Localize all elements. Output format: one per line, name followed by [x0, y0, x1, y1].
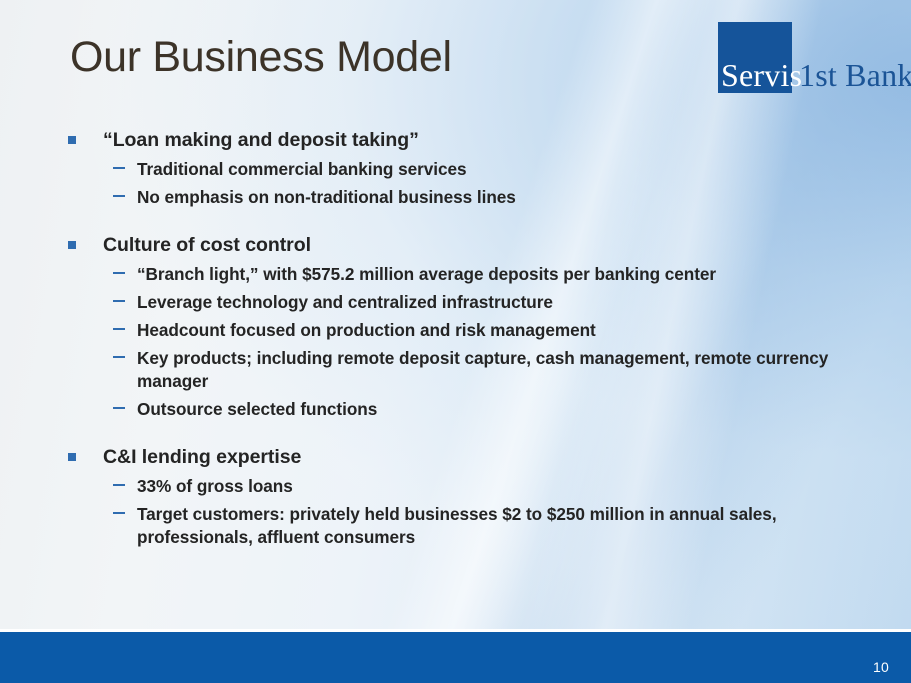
bullet-level1: Culture of cost control — [66, 233, 896, 258]
page-title: Our Business Model — [70, 33, 452, 82]
dash-bullet-icon — [113, 272, 125, 274]
bullet-level2-label: Leverage technology and centralized infr… — [137, 292, 553, 312]
bullet-group: C&I lending expertise33% of gross loansT… — [66, 445, 896, 549]
square-bullet-icon — [68, 136, 76, 144]
bullet-level2: Key products; including remote deposit c… — [66, 347, 896, 393]
bullet-sublist: “Branch light,” with $575.2 million aver… — [66, 263, 896, 420]
dash-bullet-icon — [113, 195, 125, 197]
bullet-level2-label: 33% of gross loans — [137, 476, 293, 496]
bullet-level2-label: Outsource selected functions — [137, 399, 377, 419]
page-number: 10 — [873, 659, 889, 675]
bullet-level1: “Loan making and deposit taking” — [66, 128, 896, 153]
bullet-sublist: 33% of gross loansTarget customers: priv… — [66, 475, 896, 549]
bullet-level2: 33% of gross loans — [66, 475, 896, 498]
bullet-level2: No emphasis on non-traditional business … — [66, 186, 896, 209]
square-bullet-icon — [68, 453, 76, 461]
bullet-level2: Target customers: privately held busines… — [66, 503, 896, 549]
logo-word-text: 1st Bank — [799, 57, 911, 93]
footer-bar: 10 — [0, 632, 911, 683]
bullet-content: “Loan making and deposit taking”Traditio… — [66, 128, 896, 549]
slide-canvas: Our Business Model Servis 1st Bank® “Loa… — [0, 0, 911, 683]
bullet-level1-label: “Loan making and deposit taking” — [103, 129, 419, 151]
bullet-sublist: Traditional commercial banking servicesN… — [66, 158, 896, 209]
bullet-level1-label: Culture of cost control — [103, 234, 311, 256]
logo-first-bank-text: 1st Bank® — [799, 59, 911, 91]
bullet-level2: Outsource selected functions — [66, 398, 896, 421]
dash-bullet-icon — [113, 356, 125, 358]
dash-bullet-icon — [113, 512, 125, 514]
bullet-level2: Leverage technology and centralized infr… — [66, 291, 896, 314]
logo-servis-text: Servis — [721, 59, 802, 91]
bullet-level2-label: Key products; including remote deposit c… — [137, 348, 828, 391]
dash-bullet-icon — [113, 167, 125, 169]
bullet-level2-label: Target customers: privately held busines… — [137, 504, 777, 547]
dash-bullet-icon — [113, 407, 125, 409]
dash-bullet-icon — [113, 300, 125, 302]
bullet-group: “Loan making and deposit taking”Traditio… — [66, 128, 896, 209]
bullet-level2: Traditional commercial banking services — [66, 158, 896, 181]
bullet-level2: Headcount focused on production and risk… — [66, 319, 896, 342]
dash-bullet-icon — [113, 328, 125, 330]
bullet-level2-label: “Branch light,” with $575.2 million aver… — [137, 264, 716, 284]
bullet-level2-label: No emphasis on non-traditional business … — [137, 187, 516, 207]
bullet-level2-label: Headcount focused on production and risk… — [137, 320, 596, 340]
dash-bullet-icon — [113, 484, 125, 486]
bullet-level1: C&I lending expertise — [66, 445, 896, 470]
square-bullet-icon — [68, 241, 76, 249]
bullet-level1-label: C&I lending expertise — [103, 446, 301, 468]
servis-first-bank-logo: Servis 1st Bank® — [716, 21, 891, 95]
bullet-level2-label: Traditional commercial banking services — [137, 159, 467, 179]
bullet-level2: “Branch light,” with $575.2 million aver… — [66, 263, 896, 286]
bullet-group: Culture of cost control“Branch light,” w… — [66, 233, 896, 421]
